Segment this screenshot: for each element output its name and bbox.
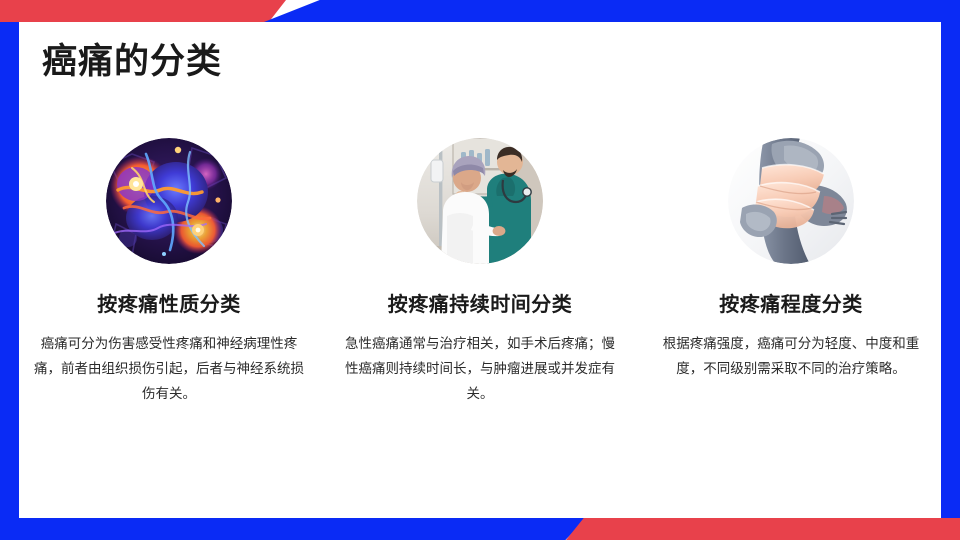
bandaging-limb-photo [728,138,854,264]
frame-bottom-bar [0,518,960,540]
page-title: 癌痛的分类 [42,40,222,84]
slide-canvas: 癌痛的分类 [0,0,960,540]
card-row: 按疼痛性质分类 癌痛可分为伤害感受性疼痛和神经病理性疼痛，前者由组织损伤引起，后… [19,138,941,407]
frame-top-blue-segment [264,0,960,22]
frame-bottom-blue-segment [0,518,586,540]
classification-card: 按疼痛持续时间分类 急性癌痛通常与治疗相关，如手术后疼痛；慢性癌痛则持续时间长，… [330,138,630,407]
frame-top-red-segment [0,0,286,22]
frame-left-bar [0,0,19,540]
card-body-text: 急性癌痛通常与治疗相关，如手术后疼痛；慢性癌痛则持续时间长，与肿瘤进展或并发症有… [342,332,618,407]
card-body-text: 癌痛可分为伤害感受性疼痛和神经病理性疼痛，前者由组织损伤引起，后者与神经系统损伤… [31,332,307,407]
card-title: 按疼痛性质分类 [97,292,241,318]
card-title: 按疼痛程度分类 [719,292,863,318]
classification-card: 按疼痛性质分类 癌痛可分为伤害感受性疼痛和神经病理性疼痛，前者由组织损伤引起，后… [19,138,319,407]
frame-right-bar [941,0,960,540]
frame-bottom-red-segment [566,518,960,540]
neuron-cells-illustration [106,138,232,264]
card-body-text: 根据疼痛强度，癌痛可分为轻度、中度和重度，不同级别需采取不同的治疗策略。 [653,332,929,382]
frame-top-bar [0,0,960,22]
nurse-assisting-patient-photo [417,138,543,264]
card-title: 按疼痛持续时间分类 [388,292,573,318]
classification-card: 按疼痛程度分类 根据疼痛强度，癌痛可分为轻度、中度和重度，不同级别需采取不同的治… [641,138,941,382]
